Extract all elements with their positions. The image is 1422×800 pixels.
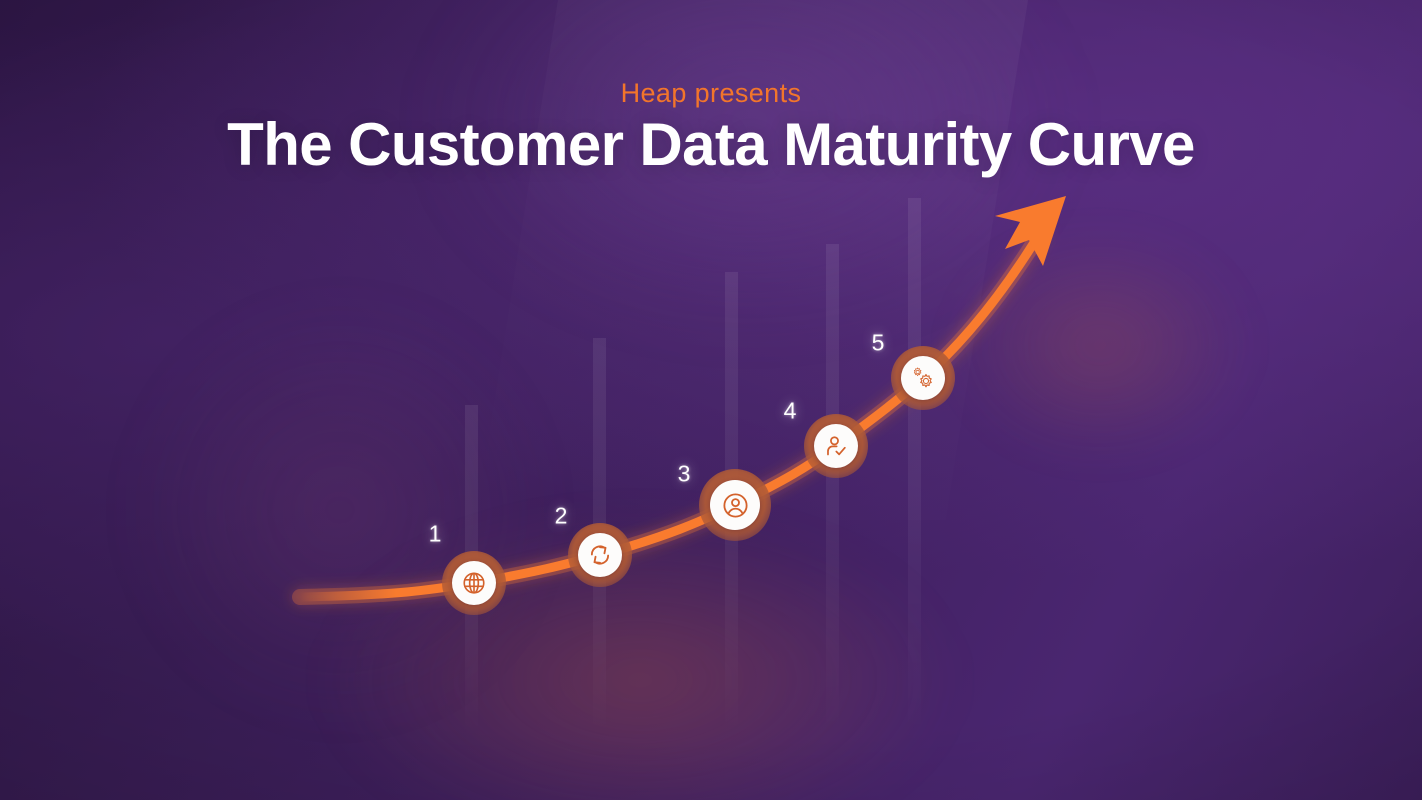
globe-icon xyxy=(461,570,487,596)
maturity-step-2[interactable] xyxy=(568,523,632,587)
step-1-disc xyxy=(452,561,496,605)
slide-canvas: Heap presents The Customer Data Maturity… xyxy=(0,0,1422,800)
user-circle-icon xyxy=(721,491,750,520)
step-3-disc xyxy=(710,480,760,530)
maturity-step-3[interactable] xyxy=(699,469,771,541)
step-5-disc xyxy=(901,356,945,400)
curve-glow xyxy=(300,233,1040,597)
sync-arrows-icon xyxy=(587,542,613,568)
curve-line xyxy=(300,233,1040,597)
gears-icon xyxy=(910,365,937,392)
maturity-step-4[interactable] xyxy=(804,414,868,478)
user-check-icon xyxy=(823,433,849,459)
maturity-curve xyxy=(0,0,1422,800)
maturity-step-5[interactable] xyxy=(891,346,955,410)
maturity-step-1[interactable] xyxy=(442,551,506,615)
step-2-disc xyxy=(578,533,622,577)
step-4-disc xyxy=(814,424,858,468)
